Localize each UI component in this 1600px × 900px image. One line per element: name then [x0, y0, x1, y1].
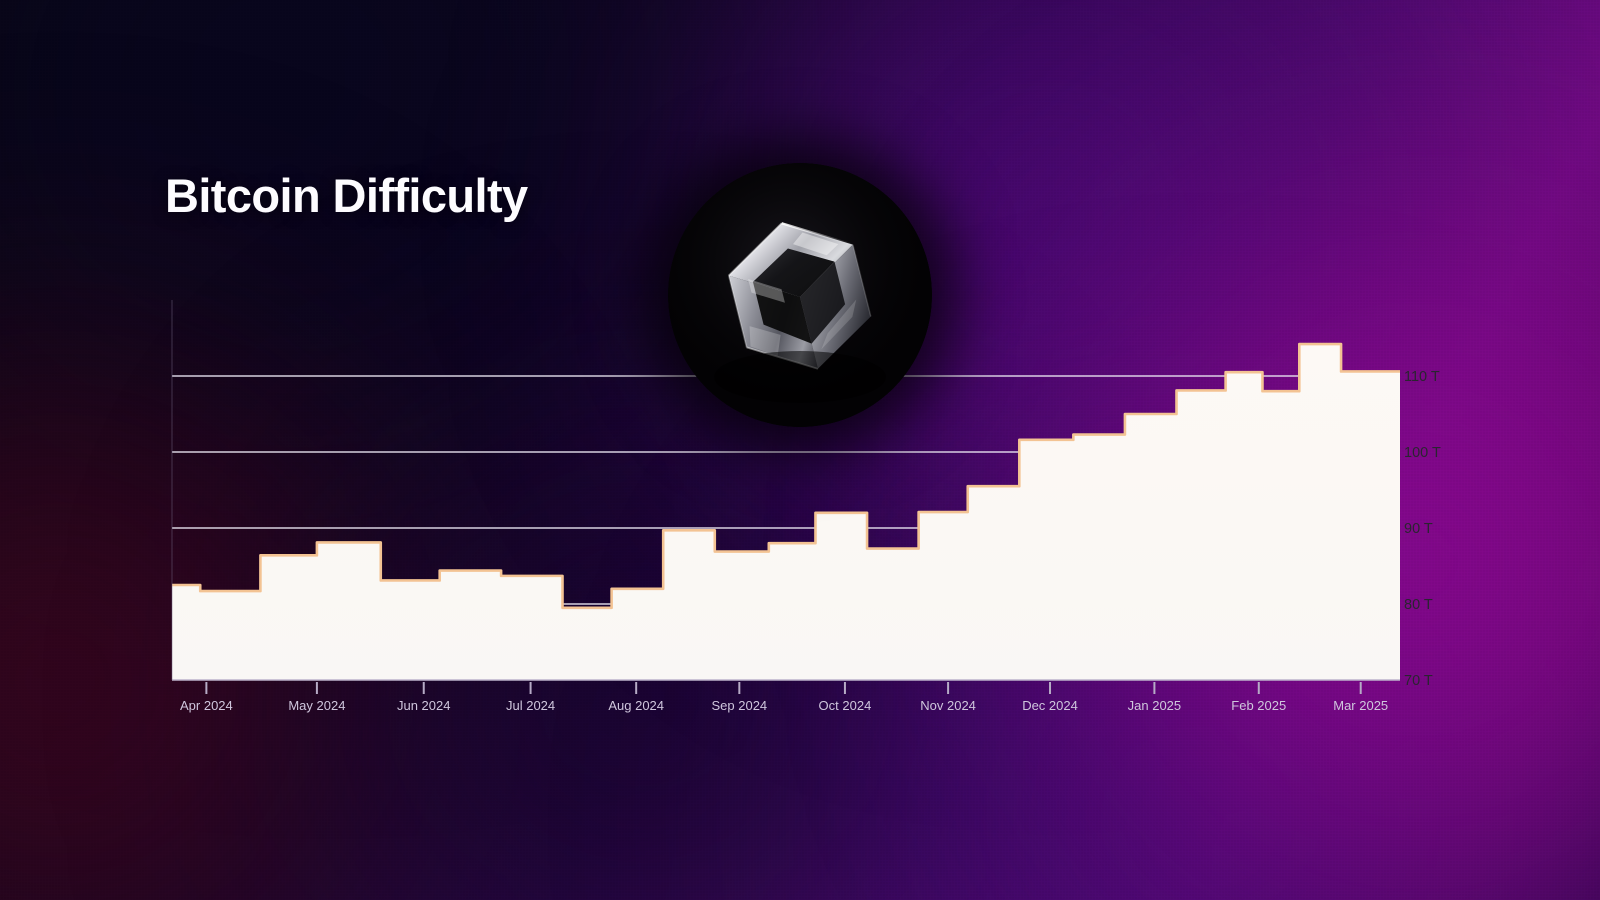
visualization-canvas: Bitcoin Difficulty	[0, 0, 1600, 900]
page-title: Bitcoin Difficulty	[165, 168, 528, 223]
background-grain-overlay	[0, 0, 1600, 900]
bitcoin-block-cube-icon	[668, 163, 932, 427]
